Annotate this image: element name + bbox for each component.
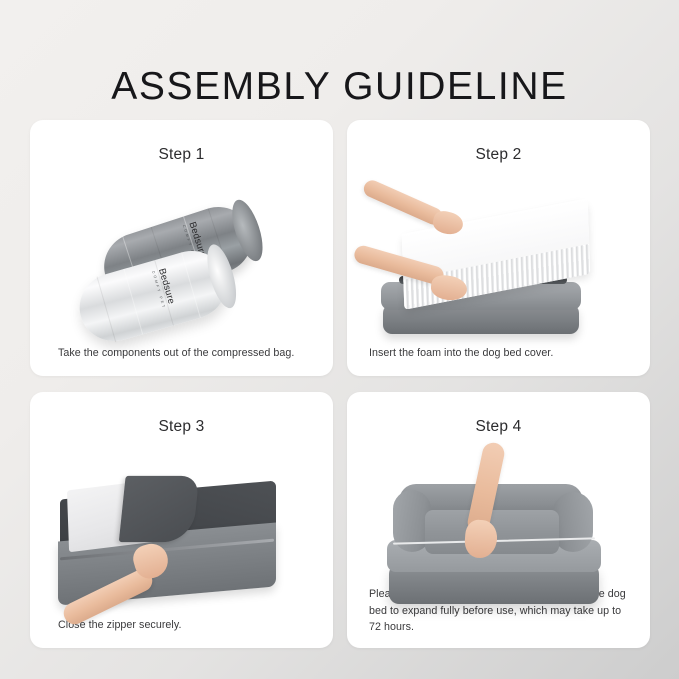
page-title: ASSEMBLY GUIDELINE <box>0 66 679 109</box>
assembly-guideline-page: ASSEMBLY GUIDELINE Step 1 Bedsure COMFY … <box>0 0 679 679</box>
step-1-heading: Step 1 <box>30 146 333 164</box>
step-3-illustration <box>30 436 333 617</box>
step-2-illustration <box>347 164 650 345</box>
step-1-illustration: Bedsure COMFY PET Bedsure COMFY PET <box>30 164 333 345</box>
step-4-illustration <box>347 436 650 586</box>
brand-label-white-roll: Bedsure COMFY PET <box>151 267 177 310</box>
step-card-1: Step 1 Bedsure COMFY PET <box>30 120 333 376</box>
step-3-heading: Step 3 <box>30 418 333 436</box>
step-card-4: Step 4 Please beat the sponge thoroughly… <box>347 392 650 648</box>
steps-grid: Step 1 Bedsure COMFY PET <box>30 120 650 648</box>
step-1-caption: Take the components out of the compresse… <box>30 345 333 362</box>
dog-bed-right-bolster <box>553 492 593 552</box>
step-4-heading: Step 4 <box>347 418 650 436</box>
step-2-heading: Step 2 <box>347 146 650 164</box>
step-card-3: Step 3 Close the zipper securely. <box>30 392 333 648</box>
step-card-2: Step 2 Insert the foam into the do <box>347 120 650 376</box>
step-2-caption: Insert the foam into the dog bed cover. <box>347 345 650 362</box>
